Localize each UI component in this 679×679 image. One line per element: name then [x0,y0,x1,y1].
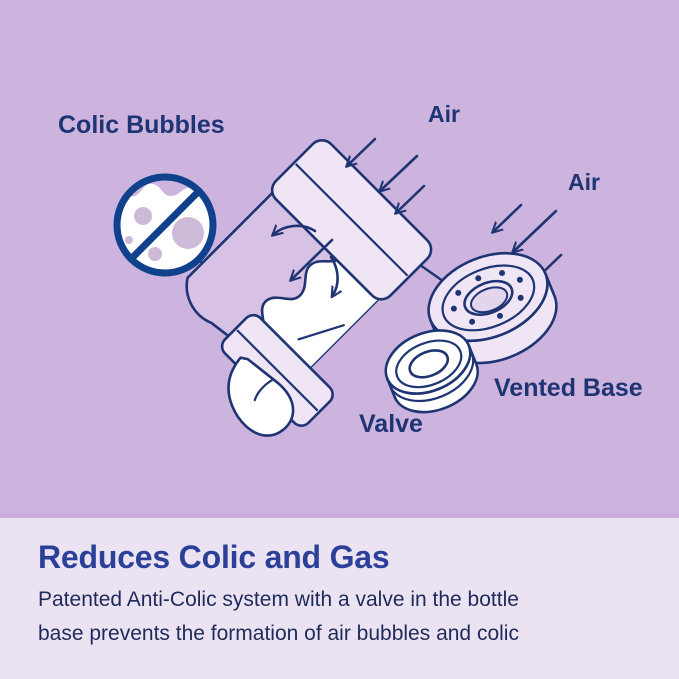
product-feature-graphic: Colic Bubbles Air Air Valve Vented Base … [0,0,679,679]
anti-colic-diagram: Colic Bubbles Air Air Valve Vented Base [0,0,679,518]
no-colic-bubbles-icon [113,175,217,273]
air-arrow-v1 [494,205,521,231]
caption-body-line-2: base prevents the formation of air bubbl… [38,618,638,650]
caption-panel: Reduces Colic and Gas Patented Anti-Coli… [0,518,679,679]
label-colic-bubbles: Colic Bubbles [58,111,225,139]
page-title: Reduces Colic and Gas [38,540,650,575]
label-vented-base: Vented Base [494,374,643,402]
air-arrow-b1 [348,139,375,165]
colic-bubble-medium [134,207,152,225]
label-air-right: Air [568,169,600,195]
colic-bubble-small [148,247,162,261]
caption-body-line-1: Patented Anti-Colic system with a valve … [38,584,638,616]
colic-bubble-large [172,217,204,249]
label-valve: Valve [359,410,423,438]
colic-bubble-tiny [125,236,133,244]
label-air-top: Air [428,101,460,127]
air-arrow-b3 [397,186,424,212]
caption-inner: Reduces Colic and Gas Patented Anti-Coli… [38,540,650,650]
air-arrow-b2 [381,156,417,190]
illustration-panel: Colic Bubbles Air Air Valve Vented Base [0,0,679,518]
air-arrow-v2 [514,211,556,251]
